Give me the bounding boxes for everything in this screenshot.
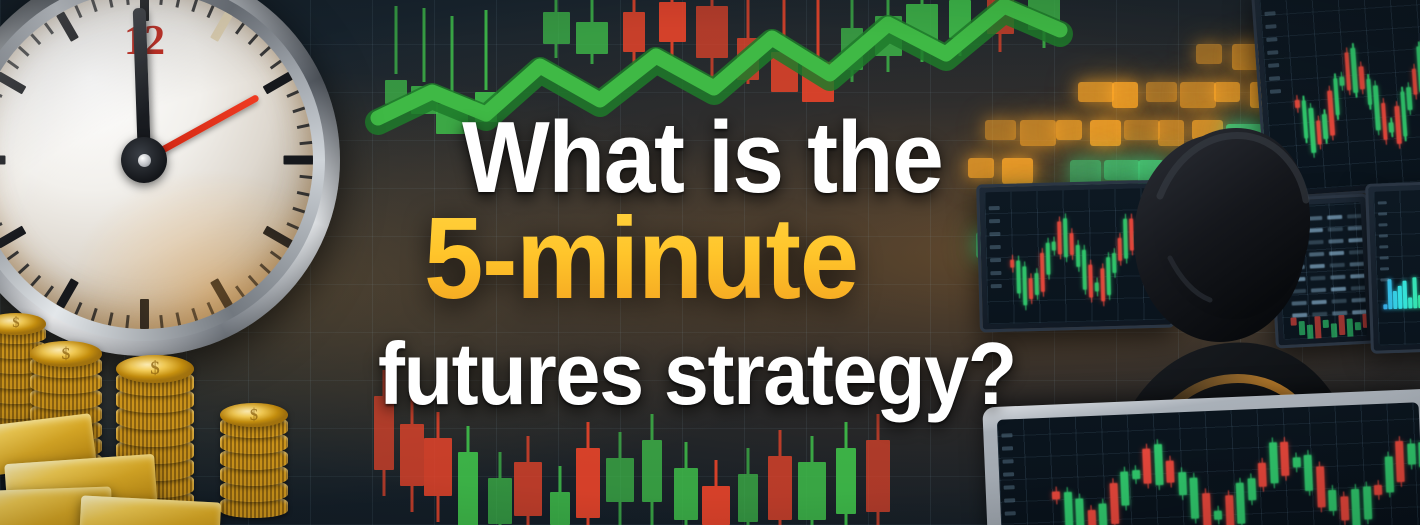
clock-tick-major (262, 72, 292, 95)
clock-tick-minor (286, 222, 299, 230)
screen-sidebar-strip (1380, 256, 1389, 259)
screen-data-row (1312, 300, 1327, 305)
coin-dollar-symbol: $ (30, 341, 102, 367)
data-tile (1172, 160, 1203, 180)
clock-tick-minor (107, 0, 113, 8)
clock-tick-minor (90, 0, 97, 12)
screen-data-row (1351, 286, 1366, 291)
candlestick (475, 10, 497, 90)
screen-data-row (1307, 216, 1322, 221)
clock-tick-major (283, 156, 313, 165)
clock-tick-minor (175, 0, 181, 8)
screen-sidebar-strip (1003, 472, 1014, 476)
screen-data-row (1291, 289, 1306, 294)
candlestick (738, 448, 758, 525)
candlestick (798, 436, 826, 525)
screen-data-row (1351, 298, 1366, 303)
clock-tick-minor (296, 123, 309, 129)
candlestick (424, 412, 452, 522)
clock-center-hub (121, 137, 167, 183)
clock-tick-minor (159, 0, 163, 5)
screen-sidebar-strip (1378, 201, 1387, 204)
screen-mini-bar (1355, 322, 1361, 330)
candlestick (606, 432, 634, 525)
data-tile (1214, 82, 1240, 102)
screen-sidebar-strip (1379, 245, 1388, 248)
candlestick (841, 0, 863, 82)
screen-data-row (1331, 287, 1346, 292)
screen-histogram-bar (1383, 304, 1387, 309)
laptop-screen (997, 402, 1420, 525)
clock-tick-major (56, 11, 79, 41)
screen-sidebar-strip (990, 245, 1001, 249)
clock-tick-major (210, 11, 233, 41)
clock-tick-minor (206, 5, 214, 18)
screen-mini-bar (1323, 320, 1329, 328)
screen-data-row (1288, 241, 1303, 246)
candlestick (514, 436, 542, 525)
gold-coin-top: $ (0, 313, 46, 335)
candlestick (642, 414, 662, 525)
screen-data-row (1350, 262, 1365, 267)
screen-data-row (1348, 238, 1363, 243)
coin-dollar-symbol: $ (0, 313, 46, 335)
candlestick (674, 442, 698, 525)
gold-coin-top: $ (30, 341, 102, 367)
screen-sidebar-strip (1270, 89, 1281, 94)
screen-mini-bar (1299, 321, 1306, 335)
data-tile (1090, 120, 1121, 146)
screen-data-row (1328, 227, 1343, 232)
candlestick (702, 460, 730, 525)
screen-data-row (1350, 274, 1365, 279)
candlestick (987, 0, 1014, 52)
screen-sidebar-strip (1267, 50, 1278, 55)
thumbnail-banner: 12 $$$$ What is the 5-minute futures str… (0, 0, 1420, 525)
screen-sidebar-strip (1004, 485, 1015, 489)
screen-sidebar-strip (1005, 511, 1016, 515)
screen-mini-bar (1338, 315, 1345, 335)
candlestick (875, 0, 902, 72)
screen-data-row (1288, 229, 1303, 234)
clock-tick-minor (296, 191, 309, 197)
candlestick (866, 414, 890, 525)
screen-data-row (1289, 253, 1304, 258)
screen-sidebar-strip (989, 232, 1000, 236)
clock-tick-minor (259, 263, 271, 274)
clock-tick-minor (269, 250, 281, 260)
screen-sidebar-strip (991, 284, 1002, 288)
data-tile (1002, 158, 1033, 184)
screen-sidebar-strip (1004, 498, 1015, 502)
screen-mini-bar (1362, 314, 1367, 328)
clock-tick-major (0, 72, 26, 95)
screen-sidebar-strip (1380, 267, 1389, 270)
monitor-top-right-screen (1259, 0, 1420, 192)
data-tile (1104, 160, 1140, 180)
clock-tick-minor (17, 263, 29, 274)
clock-tick-minor (269, 59, 281, 69)
monitor-far-right-screen (1373, 188, 1420, 345)
screen-sidebar-strip (989, 219, 1000, 223)
candlestick (576, 0, 608, 64)
data-tile (1180, 82, 1216, 108)
screen-mini-bar (1307, 325, 1314, 341)
candlestick (696, 0, 728, 80)
screen-sidebar-strip (1264, 11, 1275, 16)
candlestick (488, 452, 512, 525)
screen-data-row (1330, 263, 1345, 268)
clock-tick-minor (30, 33, 41, 45)
data-tile (1056, 120, 1082, 140)
screen-mini-bar (1331, 323, 1338, 337)
screen-sidebar-strip (1379, 234, 1388, 237)
screen-sidebar-strip (989, 206, 1000, 210)
screen-data-row (1309, 252, 1324, 257)
screen-sidebar-strip (1002, 446, 1013, 450)
candlestick (458, 426, 478, 525)
monitor-main-screen (984, 188, 1166, 325)
data-tile (1020, 120, 1056, 146)
screen-sidebar-strip (990, 258, 1001, 262)
screen-histogram-bar (1398, 286, 1402, 309)
data-tile (1158, 120, 1184, 146)
candlestick (836, 422, 856, 525)
screen-sidebar-strip (1269, 76, 1280, 81)
screen-sidebar-strip (1265, 24, 1276, 29)
clock-tick-major (0, 226, 26, 249)
clock-tick-minor (191, 0, 198, 12)
clock-tick-minor (30, 275, 41, 287)
clock-tick-minor (234, 22, 244, 34)
screen-data-row (1310, 264, 1325, 269)
data-tile (985, 120, 1016, 140)
gold-bar (79, 495, 221, 525)
clock-tick-minor (259, 46, 271, 57)
screen-data-row (1311, 288, 1326, 293)
monitor-mid-right-screen (1277, 202, 1368, 340)
candlestick (771, 0, 798, 92)
data-tile (1192, 120, 1223, 140)
candlestick (768, 430, 792, 525)
screen-sidebar-strip (1001, 433, 1012, 437)
candlestick (543, 0, 570, 58)
data-tile (1146, 82, 1177, 102)
clock-tick-minor (43, 22, 53, 34)
clock-tick-major (0, 156, 5, 165)
clock-tick-minor (74, 5, 82, 18)
candlestick (1028, 0, 1060, 48)
clock-tick-minor (292, 106, 305, 113)
candlestick (906, 0, 938, 62)
screen-sidebar-strip (1378, 223, 1387, 226)
clock-tick-minor (247, 275, 258, 287)
screen-data-row (1287, 217, 1302, 222)
candlestick (436, 16, 468, 96)
screen-data-row (1329, 251, 1344, 256)
screen-grid (1259, 0, 1420, 192)
gold-coin-stack: $ (220, 403, 288, 525)
clock-tick-minor (247, 33, 258, 45)
clock-tick-minor (6, 250, 18, 260)
screen-data-row (1328, 239, 1343, 244)
clock-tick-minor (0, 90, 2, 98)
screen-sidebar-strip (990, 271, 1001, 275)
screen-data-row (1347, 214, 1362, 219)
screen-data-row (1308, 240, 1323, 245)
screen-data-row (1290, 277, 1305, 282)
data-tile (1124, 120, 1160, 140)
clock-tick-minor (286, 90, 299, 98)
monitor-main (976, 179, 1175, 332)
screen-histogram-bar (1408, 298, 1412, 309)
screen-histogram-bar (1393, 291, 1397, 310)
candlestick (385, 6, 407, 74)
gold-coin-top: $ (116, 355, 194, 383)
screen-data-row (1327, 215, 1342, 220)
clock-tick-minor (292, 207, 305, 214)
screen-data-row (1308, 228, 1323, 233)
data-tile (1226, 124, 1262, 150)
monitor-far-right (1365, 180, 1420, 354)
clock-tick-minor (17, 46, 29, 57)
candlestick (802, 0, 834, 98)
data-tile (968, 158, 994, 178)
screen-data-row (1310, 276, 1325, 281)
clock-tick-minor (299, 175, 312, 179)
screen-mini-bar (1290, 317, 1296, 325)
gold-coin-top: $ (220, 403, 288, 427)
data-tile (1112, 82, 1138, 108)
clock-tick-minor (125, 0, 129, 5)
screen-sidebar-strip (1266, 37, 1277, 42)
clock-tick-minor (6, 59, 18, 69)
screen-sidebar-strip (1268, 63, 1279, 68)
coin-dollar-symbol: $ (220, 403, 288, 427)
candlestick (949, 0, 971, 56)
screen-data-row (1332, 299, 1347, 304)
candlestick (550, 466, 570, 525)
candlestick (659, 0, 686, 64)
coin-dollar-symbol: $ (116, 355, 194, 383)
clock-tick-major (262, 226, 292, 249)
clock-tick-minor (299, 141, 312, 145)
screen-data-row (1330, 275, 1345, 280)
candlestick (623, 0, 645, 70)
clock-tick-minor (0, 222, 2, 230)
screen-data-row (1348, 226, 1363, 231)
data-tile (1078, 82, 1114, 102)
gold-treasure: $$$$ (0, 293, 404, 525)
data-tile (1196, 44, 1222, 64)
screen-sidebar-strip (1002, 459, 1013, 463)
monitor-top-right (1251, 0, 1420, 200)
screen-data-row (1349, 250, 1364, 255)
candlestick (737, 0, 759, 84)
screen-data-row (1290, 265, 1305, 270)
screen-sidebar-strip (1378, 212, 1387, 215)
monitor-mid-right (1268, 193, 1376, 348)
screen-data-row (1292, 301, 1307, 306)
candlestick (576, 422, 600, 525)
screen-sidebar-strip (1380, 278, 1389, 281)
laptop (982, 389, 1420, 525)
candlestick (411, 8, 438, 82)
